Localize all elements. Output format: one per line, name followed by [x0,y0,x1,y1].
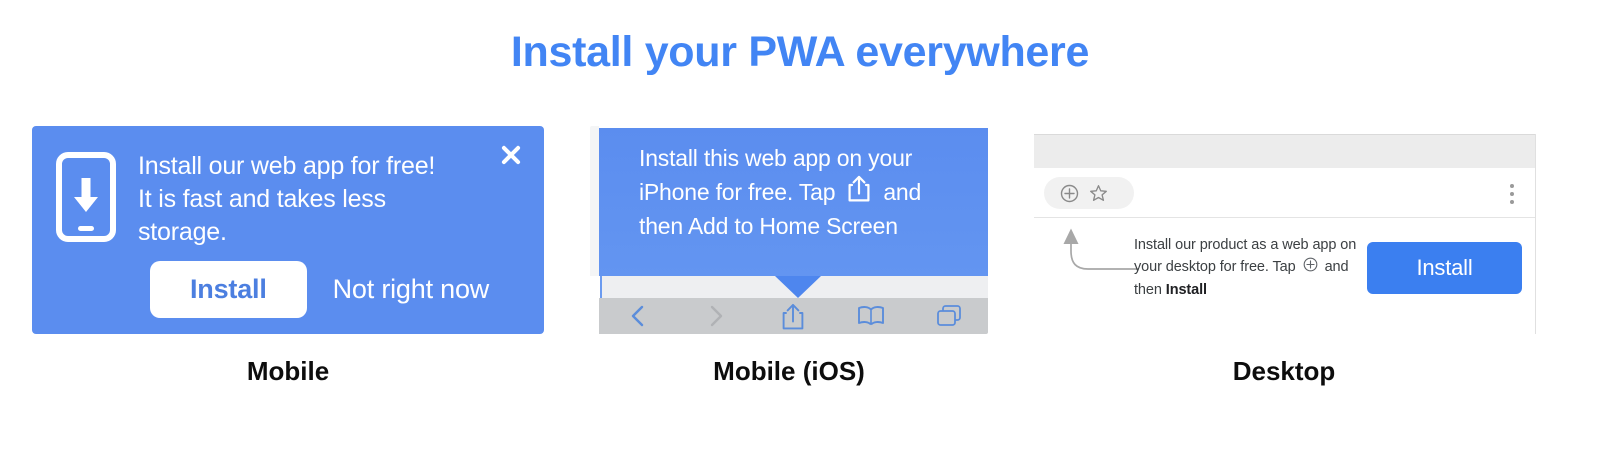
omnibox[interactable] [1044,177,1134,209]
install-button[interactable]: Install [1367,242,1522,294]
share-icon [848,175,870,211]
mobile-message: Install our web app for free! It is fast… [138,148,435,249]
tabs-icon[interactable] [910,304,988,328]
browser-window-right-edge [1535,134,1536,334]
ios-install-hint: Install this web app on your iPhone for … [590,126,988,334]
desktop-message-line-3-bold: Install [1166,280,1207,302]
forward-chevron-icon[interactable] [677,303,755,329]
mobile-message-line-2: It is fast and takes less [138,183,435,216]
cards-row: Install our web app for free! It is fast… [0,126,1600,426]
ios-message-line-2-before: iPhone for free. Tap [639,176,835,209]
curved-arrow-up-icon [1054,225,1140,292]
install-button[interactable]: Install [150,261,307,318]
kebab-menu-icon[interactable] [1510,184,1514,204]
ios-page-edge [590,126,599,294]
ios-tooltip-pointer-icon [775,276,821,298]
ios-page-gap-tick [600,276,602,298]
card-mobile-ios: Install this web app on your iPhone for … [590,126,988,387]
card-caption-desktop: Desktop [1032,356,1536,387]
bookmarks-book-icon[interactable] [832,304,910,328]
page-title: Install your PWA everywhere [0,28,1600,77]
browser-toolbar [1034,168,1536,218]
ios-message-line-2-after: and [883,176,921,209]
back-chevron-icon[interactable] [599,303,677,329]
mobile-message-line-3: storage. [138,216,435,249]
mobile-banner-body: Install our web app for free! It is fast… [56,148,435,249]
card-desktop: Install our product as a web app on your… [1032,126,1536,387]
desktop-browser-window: Install our product as a web app on your… [1032,126,1536,334]
pwa-install-promo-page: Install your PWA everywhere [0,0,1600,454]
mobile-message-line-1: Install our web app for free! [138,150,435,183]
card-caption-mobile: Mobile [32,356,544,387]
desktop-message-line-3: then [1134,280,1162,302]
mobile-banner-actions: Install Not right now [150,261,489,318]
mobile-install-banner: Install our web app for free! It is fast… [32,126,544,334]
card-caption-mobile-ios: Mobile (iOS) [590,356,988,387]
browser-tab-strip [1034,134,1536,168]
close-icon[interactable] [496,140,526,170]
ios-message-line-1: Install this web app on your [639,142,912,175]
desktop-promo-area: Install our product as a web app on your… [1034,219,1536,334]
safari-toolbar [599,298,988,334]
desktop-message-line-2-after: and [1325,257,1349,279]
ios-tooltip-panel: Install this web app on your iPhone for … [599,128,988,276]
bookmark-star-icon[interactable] [1089,184,1108,203]
phone-download-icon [56,152,116,242]
not-right-now-button[interactable]: Not right now [333,274,489,305]
card-mobile: Install our web app for free! It is fast… [32,126,544,387]
install-plus-icon [1303,257,1318,280]
desktop-message-line-1: Install our product as a web app on [1134,235,1356,257]
install-plus-icon[interactable] [1060,184,1079,203]
desktop-message-line-2-before: your desktop for free. Tap [1134,257,1296,279]
share-icon[interactable] [755,303,833,330]
desktop-promo-message: Install our product as a web app on your… [1134,235,1364,301]
ios-message-line-3: then Add to Home Screen [639,210,898,243]
ios-tooltip-message: Install this web app on your iPhone for … [599,128,988,243]
